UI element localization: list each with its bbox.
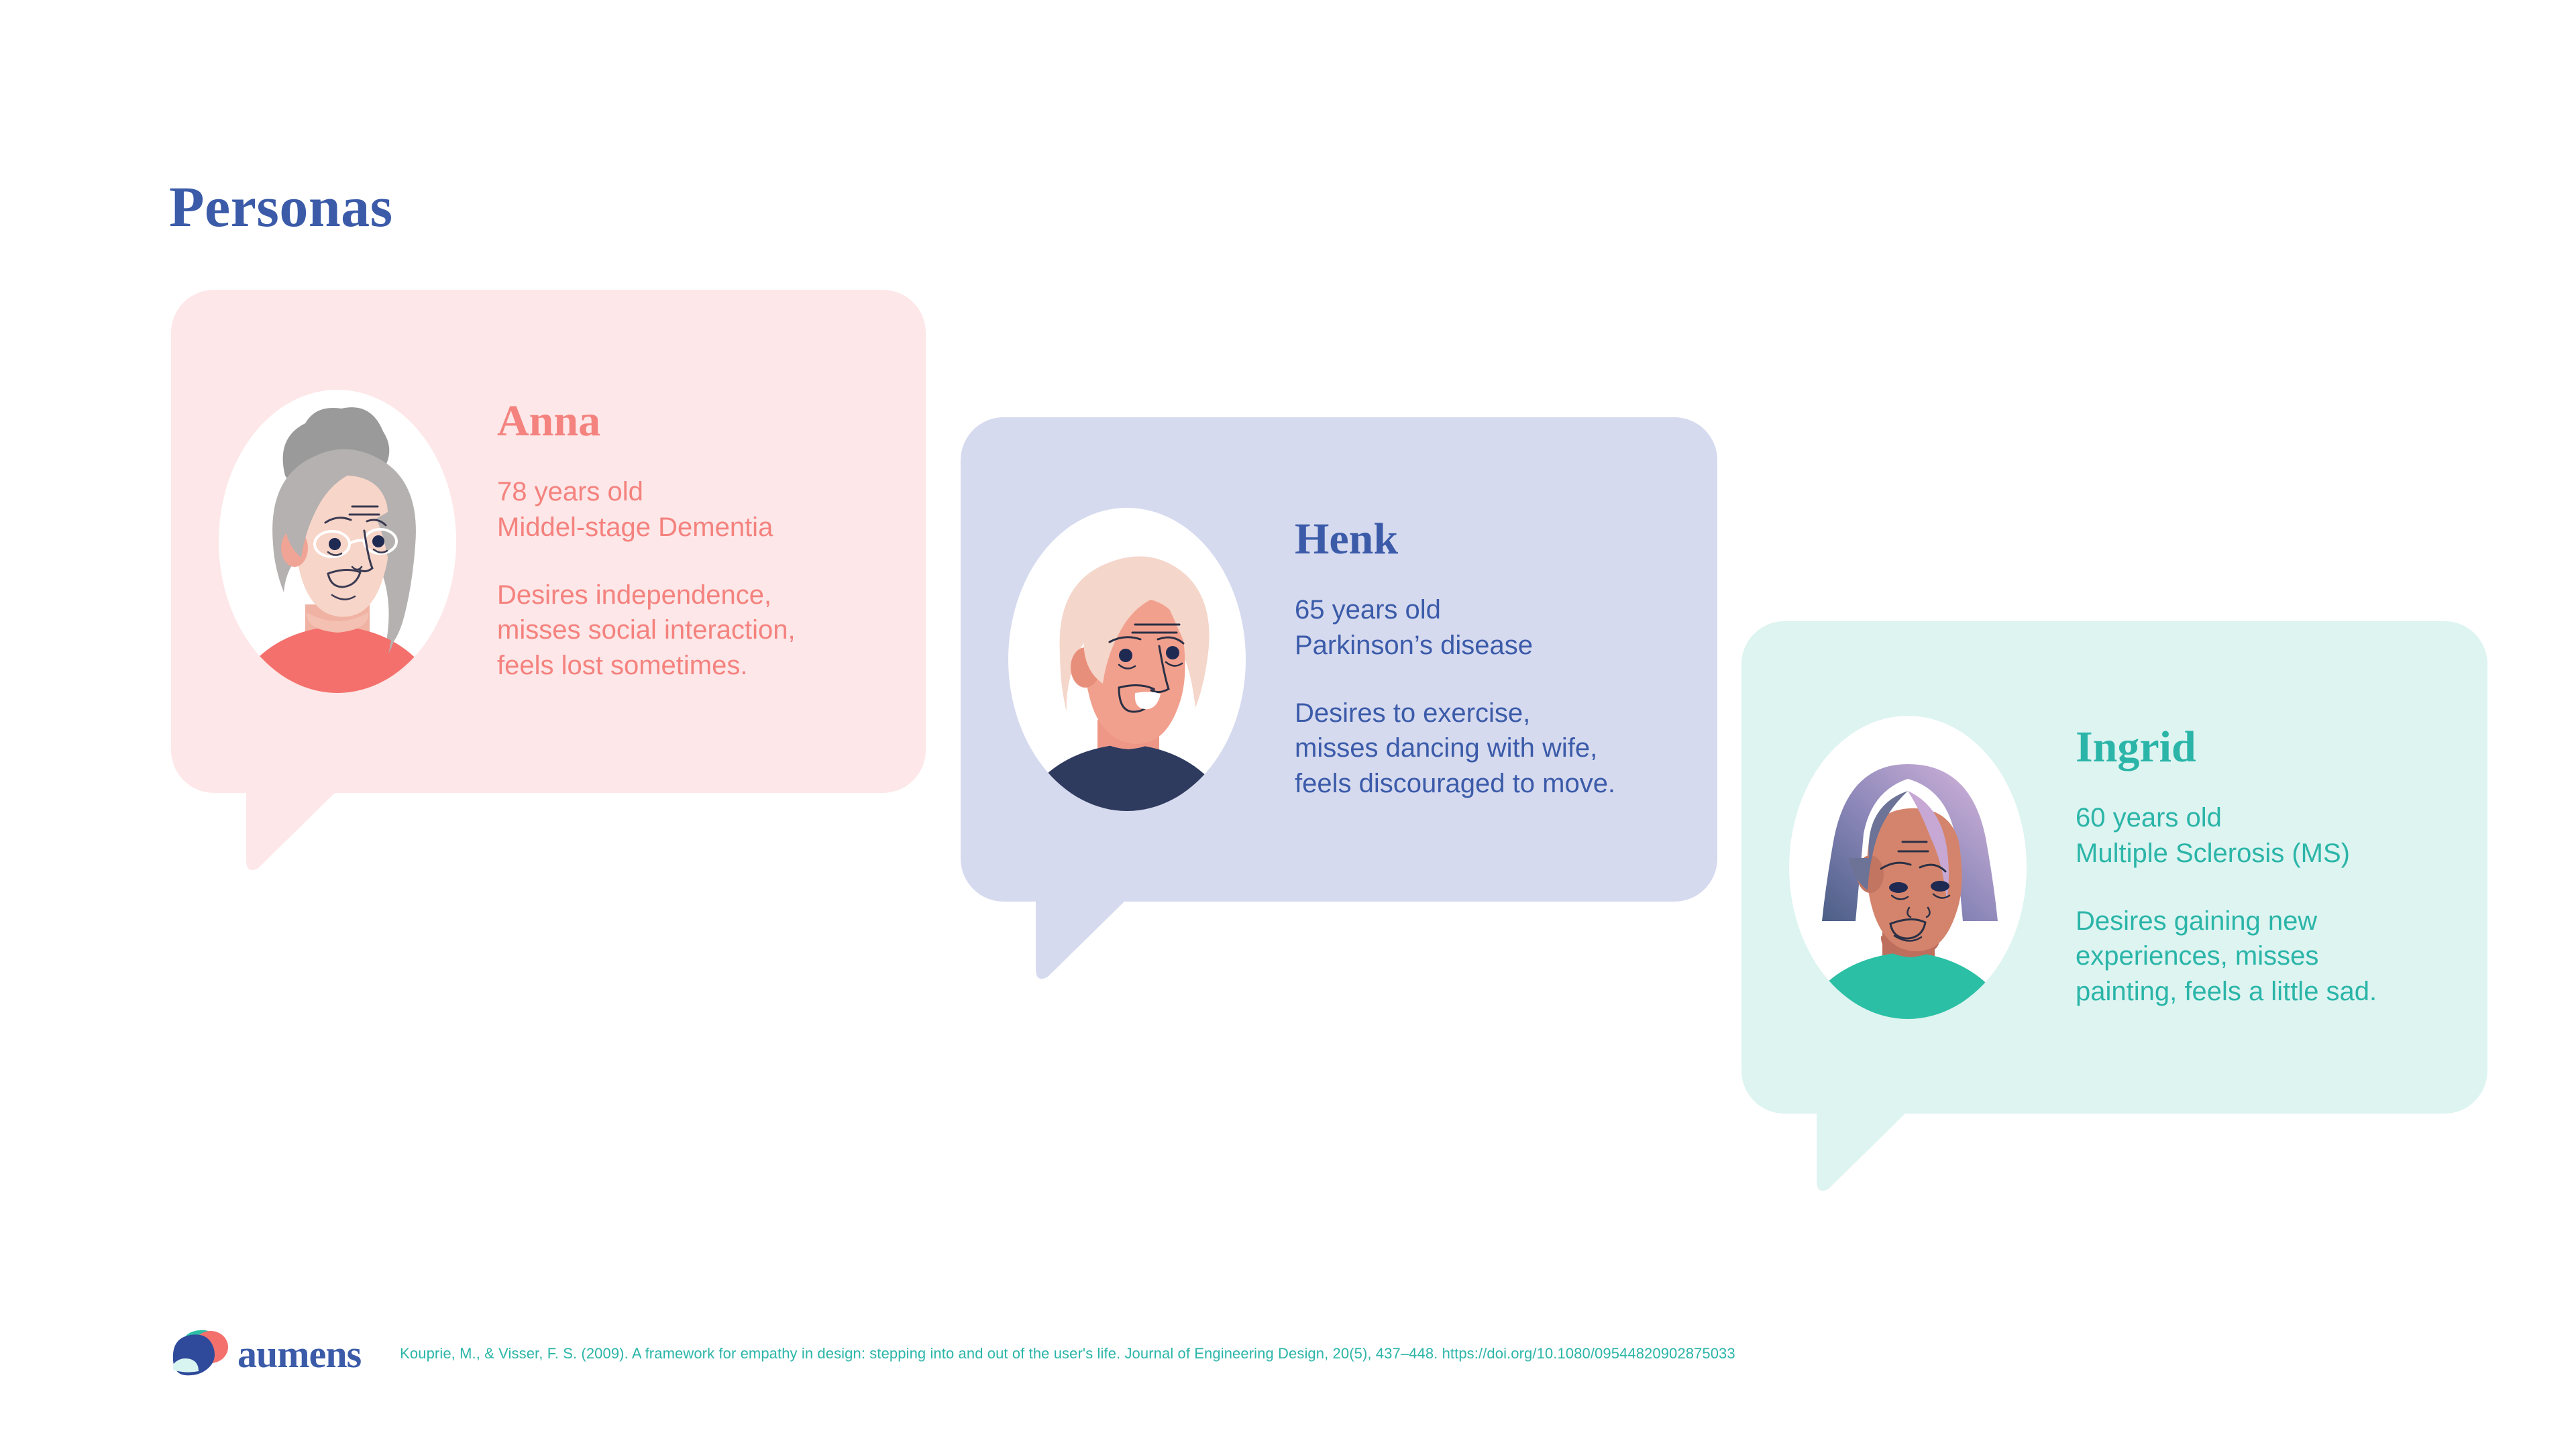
persona-name: Henk	[1295, 517, 1690, 561]
henk-avatar-illustration	[990, 494, 1264, 824]
card-content: Anna 78 years old Middel-stage Dementia …	[171, 290, 926, 793]
ingrid-text-column: Ingrid 60 years old Multiple Sclerosis (…	[2045, 725, 2487, 1010]
aumens-brain-logo	[169, 1327, 233, 1381]
footer: aumens Kouprie, M., & Visser, F. S. (200…	[169, 1327, 1735, 1381]
persona-card-ingrid[interactable]: Ingrid 60 years old Multiple Sclerosis (…	[1741, 621, 2487, 1114]
persona-name: Ingrid	[2076, 725, 2461, 769]
speech-bubble-tail	[1036, 902, 1124, 981]
speech-bubble-tail	[1817, 1114, 1905, 1193]
anna-avatar-illustration	[201, 376, 474, 706]
citation-text: Kouprie, M., & Visser, F. S. (2009). A f…	[400, 1345, 1735, 1362]
persona-description: Desires independence, misses social inte…	[497, 578, 899, 684]
page-title: Personas	[169, 173, 393, 240]
persona-name: Anna	[497, 399, 899, 443]
card-content: Ingrid 60 years old Multiple Sclerosis (…	[1741, 621, 2487, 1114]
card-content: Henk 65 years old Parkinson’s disease De…	[961, 417, 1717, 902]
speech-bubble-tail	[246, 793, 335, 872]
persona-description: Desires to exercise, misses dancing with…	[1295, 696, 1690, 802]
anna-text-column: Anna 78 years old Middel-stage Dementia …	[474, 399, 926, 684]
aumens-wordmark: aumens	[237, 1332, 361, 1377]
persona-card-anna[interactable]: Anna 78 years old Middel-stage Dementia …	[171, 290, 926, 793]
persona-meta: 65 years old Parkinson’s disease	[1295, 592, 1690, 663]
slide-canvas: Personas	[0, 0, 2576, 1449]
ingrid-avatar-illustration	[1771, 702, 2045, 1032]
persona-meta: 78 years old Middel-stage Dementia	[497, 474, 899, 545]
henk-text-column: Henk 65 years old Parkinson’s disease De…	[1264, 517, 1717, 802]
persona-description: Desires gaining new experiences, misses …	[2076, 904, 2461, 1010]
persona-card-henk[interactable]: Henk 65 years old Parkinson’s disease De…	[961, 417, 1717, 902]
persona-meta: 60 years old Multiple Sclerosis (MS)	[2076, 800, 2461, 871]
